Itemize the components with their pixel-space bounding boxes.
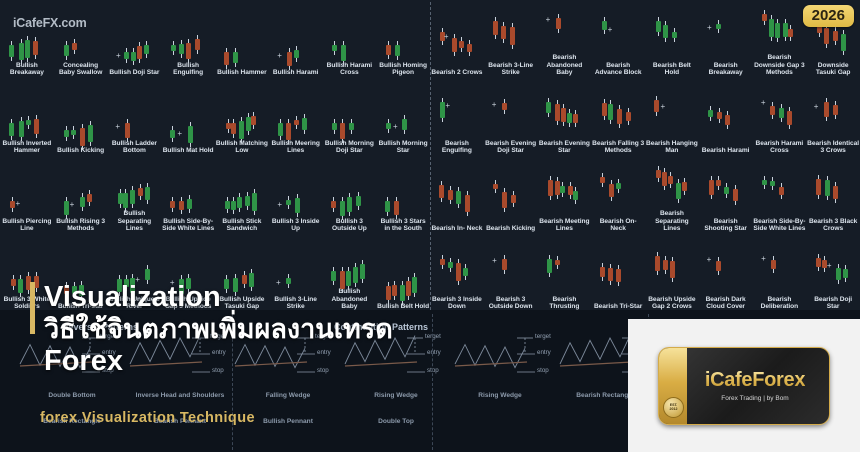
bearish-candle [80, 128, 85, 146]
bearish-candle [626, 112, 631, 120]
bullish-candle [656, 21, 661, 32]
pattern-cell: +Bearish Breakaway [699, 0, 753, 78]
pattern-cell: +Bullish Morning Star [376, 78, 430, 156]
bearish-candle [555, 260, 560, 265]
bearish-candle [33, 41, 38, 55]
candlestick-glyph [809, 171, 857, 217]
bullish-candle [775, 23, 780, 38]
pattern-label: Bullish Separating Lines [108, 209, 160, 233]
established-badge: EST. 2012 [663, 397, 684, 418]
pattern-label: Bullish Doji Star [108, 68, 160, 77]
bearish-candle [251, 116, 256, 125]
candlestick-glyph [487, 15, 535, 61]
pattern-cell: Concealing Baby Swallow [54, 0, 108, 78]
pattern-label: Bearish Kicking [485, 224, 537, 233]
bullish-candle [448, 262, 453, 268]
bullish-candle [567, 113, 572, 123]
bearish-candle [179, 201, 184, 210]
bullish-candle [294, 50, 299, 58]
bearish-candle [568, 186, 573, 195]
doji-marker: + [177, 130, 182, 138]
bearish-candle [616, 269, 621, 283]
bullish-candle [118, 193, 123, 204]
pattern-label: Bullish Harami Cross [323, 61, 375, 77]
bullish-candle [463, 268, 468, 276]
candlestick-glyph [110, 163, 158, 209]
bearish-candle [779, 187, 784, 195]
pattern-label: Bearish Evening Doji Star [485, 139, 537, 155]
pattern-label: Bearish Dark Cloud Cover [700, 295, 752, 311]
pattern-label: Bearish Separating Lines [646, 209, 698, 233]
pattern-label: Bearish Evening Star [538, 139, 590, 155]
chart-pattern-name: Double Top [346, 418, 446, 425]
site-watermark: iCafeFX.com [13, 16, 87, 30]
candlestick-glyph [164, 15, 212, 61]
candlestick-glyph: + [540, 7, 588, 53]
pattern-label: Bullish Stick Sandwich [216, 217, 268, 233]
candlestick-glyph: + [809, 93, 857, 139]
pattern-cell: Bearish Kicking [484, 156, 538, 234]
candlestick-glyph: + [648, 93, 696, 139]
pattern-cell: +Bullish Piercing Line [0, 156, 54, 234]
bullish-candle [131, 52, 136, 61]
pattern-cell: Bullish Matching Low [215, 78, 269, 156]
pattern-cell: +Bullish Harami [269, 0, 323, 78]
bullish-candle [25, 40, 30, 58]
bullish-candle [616, 183, 621, 189]
bearish-candle [816, 258, 821, 268]
annotation-label: stop [537, 367, 549, 374]
pattern-label: Downside Tasuki Gap [807, 61, 859, 77]
pattern-cell: Bearish Tri-Star [591, 234, 645, 312]
pattern-label: Bearish Doji Star [807, 295, 859, 311]
pattern-label: Bullish Homing Pigeon [377, 61, 429, 77]
bearish-candle [556, 18, 561, 29]
bearish-candle [668, 176, 673, 184]
doji-marker: + [444, 33, 449, 41]
pattern-label: Bullish Morning Star [377, 139, 429, 155]
bearish-candle [716, 261, 721, 272]
pattern-cell: Bullish Separating Lines [108, 156, 162, 234]
bearish-candle [459, 41, 464, 48]
annotation-label: entry [427, 349, 441, 356]
pattern-cell: +Bearish Harami Cross [753, 78, 807, 156]
bullish-candle [179, 44, 184, 55]
bullish-candle [188, 126, 193, 143]
candlestick-glyph: + [272, 171, 320, 217]
bullish-candle [18, 279, 23, 293]
pattern-cell: +Bearish Evening Doji Star [484, 78, 538, 156]
overlay-title-line2: วิธีใช้จินตภาพเพิ่มผลงานเทรด [44, 313, 393, 345]
bearish-candle [602, 103, 607, 116]
candlestick-glyph [379, 171, 427, 217]
pattern-label: Bearish Advance Block [592, 61, 644, 77]
bullish-candle [573, 191, 578, 200]
bullish-candle [302, 118, 307, 131]
bullish-candle [239, 121, 244, 139]
bearish-candle [440, 259, 445, 265]
pattern-cell: Bearish On-Neck [591, 156, 645, 234]
candlestick-glyph: + [3, 171, 51, 217]
pattern-label: Bullish Piercing Line [1, 217, 53, 233]
pattern-label: Bearish Identical 3 Crows [807, 139, 859, 155]
bullish-candle [783, 23, 788, 38]
candlestick-glyph: + [702, 249, 750, 295]
bullish-candle [19, 43, 24, 60]
pattern-label: Bullish Side-By-Side White Lines [162, 217, 214, 233]
pattern-cell: +Bullish Rising 3 Methods [54, 156, 108, 234]
bearish-candle [833, 105, 838, 115]
bullish-candle [708, 110, 713, 117]
bearish-candle [386, 45, 391, 55]
bullish-candle [347, 197, 352, 212]
pattern-label: Bullish Harami [270, 68, 322, 77]
bearish-candle [467, 44, 472, 52]
pattern-label: Concealing Baby Swallow [55, 61, 107, 77]
bearish-candle [717, 112, 722, 119]
candlestick-glyph: + [433, 93, 481, 139]
doji-marker: + [761, 99, 766, 107]
bullish-candle [331, 271, 336, 281]
bearish-candle [394, 201, 399, 215]
chart-pattern-name: Rising Wedge [452, 392, 548, 399]
pattern-label: Bearish On-Neck [592, 217, 644, 233]
pattern-label: Bearish 3 Inside Down [431, 295, 483, 311]
bullish-candle [71, 130, 76, 135]
candlestick-glyph [218, 171, 266, 217]
brand-name: iCafeForex [705, 369, 805, 392]
pattern-label: Bullish Breakaway [1, 61, 53, 77]
bullish-candle [762, 180, 767, 185]
doji-marker: + [761, 255, 766, 263]
bearish-candle [656, 170, 661, 178]
doji-marker: + [546, 16, 551, 24]
pattern-label: Bullish Mat Hold [162, 146, 214, 155]
bearish-candle [448, 190, 453, 200]
bullish-candle [602, 21, 607, 30]
pattern-cell: Bearish Upside Gap 2 Crows [645, 234, 699, 312]
candlestick-glyph [433, 178, 481, 224]
candlestick-glyph [540, 171, 588, 217]
bearish-candle [452, 38, 457, 52]
bearish-candle [34, 119, 39, 134]
bullish-candle [412, 277, 417, 293]
pattern-label: Bearish Falling 3 Methods [592, 139, 644, 155]
bearish-candle [770, 106, 775, 114]
candlestick-glyph: + [110, 22, 158, 68]
pattern-cell: Bullish Harami Cross [323, 0, 377, 78]
bearish-candle [561, 108, 566, 122]
bullish-candle [779, 108, 784, 118]
bearish-candle [573, 114, 578, 123]
candlestick-glyph: + [809, 249, 857, 295]
pattern-cell: Bearish Belt Hold [645, 0, 699, 78]
candlestick-glyph: + [702, 15, 750, 61]
candlestick-glyph [540, 93, 588, 139]
bullish-candle [402, 119, 407, 130]
bearish-candle [72, 43, 77, 50]
candlestick-glyph [487, 178, 535, 224]
bullish-candle [278, 123, 283, 137]
bearish-candle [493, 21, 498, 35]
candlestick-glyph: + [164, 100, 212, 146]
bearish-candle [510, 27, 515, 45]
pattern-label: Bearish 3 Black Crows [807, 217, 859, 233]
candlestick-glyph: + [594, 15, 642, 61]
candlestick-glyph [540, 249, 588, 295]
bearish-candle [609, 184, 614, 197]
bullish-candle [9, 45, 14, 57]
bullish-candle [231, 201, 236, 210]
bullish-candle [9, 123, 14, 136]
bullish-candle [769, 19, 774, 37]
title-accent-bar [30, 282, 35, 334]
bullish-candle [770, 181, 775, 186]
candlestick-glyph [218, 22, 266, 68]
pattern-label: Bearish 2 Crows [431, 68, 483, 77]
candlestick-glyph [379, 15, 427, 61]
candlestick-glyph: + [487, 93, 535, 139]
overlay-title-line1: Visualization [44, 281, 393, 313]
pattern-cell: +Bearish Advance Block [591, 0, 645, 78]
pattern-label: Bullish 3 Outside Up [323, 217, 375, 233]
pattern-label: Bullish 3 Inside Up [270, 217, 322, 233]
pattern-cell: +Bearish Deliberation [753, 234, 807, 312]
bearish-candle [224, 52, 229, 65]
bearish-candle [195, 39, 200, 50]
bullish-candle [547, 259, 552, 273]
pattern-cell: Bearish Meeting Lines [538, 156, 592, 234]
bullish-candle [385, 201, 390, 212]
bearish-candle [655, 256, 660, 271]
pattern-cell: Bullish Engulfing [161, 0, 215, 78]
candlestick-glyph [594, 171, 642, 217]
bullish-candle [88, 125, 93, 142]
bullish-candle [124, 52, 129, 59]
bullish-candle [170, 130, 175, 138]
bullish-candle [233, 52, 238, 63]
bearish-candle [502, 192, 507, 209]
pattern-cell: Bullish Morning Doji Star [323, 78, 377, 156]
candlestick-glyph [325, 15, 373, 61]
bullish-candle [560, 186, 565, 193]
candlestick-glyph [433, 249, 481, 295]
pattern-cell: +Bearish 2 Crows [430, 0, 484, 78]
pattern-cell: +Bearish 3 Outside Down [484, 234, 538, 312]
bearish-candle [465, 195, 470, 211]
bullish-candle [608, 104, 613, 121]
chart-pattern-name: Rising Wedge [346, 392, 446, 399]
bullish-candle [836, 268, 841, 280]
pattern-label: Bearish Hanging Man [646, 139, 698, 155]
brand-subtitle: Forex Trading | by Bom [721, 395, 788, 402]
candlestick-glyph: + [57, 171, 105, 217]
bullish-candle [841, 34, 846, 51]
pattern-label: Bearish Meeting Lines [538, 217, 590, 233]
pattern-cell: Bearish In- Neck [430, 156, 484, 234]
pattern-cell: Bearish Separating Lines [645, 156, 699, 234]
pattern-label: Bearish 3-Line Strike [485, 61, 537, 77]
pattern-label: Bearish 3 Outside Down [485, 295, 537, 311]
brand-logo-card: EST. 2012 iCafeForex Forex Trading | by … [628, 319, 860, 452]
infographic-canvas: Bullish BreakawayConcealing Baby Swallow… [0, 0, 860, 452]
candlestick-glyph: + [755, 93, 803, 139]
pattern-cell: Bullish Side-By-Side White Lines [161, 156, 215, 234]
candlestick-glyph [325, 171, 373, 217]
bearish-candle [502, 259, 507, 271]
bullish-candle [171, 45, 176, 51]
bearish-candle [87, 194, 92, 201]
bullish-candle [80, 197, 85, 207]
pattern-cell: Bearish Falling 3 Methods [591, 78, 645, 156]
pattern-cell: Bearish Thrusting [538, 234, 592, 312]
bullish-candle [64, 201, 69, 215]
doji-marker: + [116, 52, 121, 60]
pattern-cell: Bullish Stick Sandwich [215, 156, 269, 234]
bearish-candle [125, 123, 130, 138]
pattern-cell: Bearish Side-By-Side White Lines [753, 156, 807, 234]
bullish-candle [64, 45, 69, 56]
pattern-cell: +Bearish Hanging Man [645, 78, 699, 156]
pattern-label: Bullish 3 Stars in the South [377, 217, 429, 233]
candlestick-glyph: + [433, 22, 481, 68]
bearish-candle [340, 123, 345, 139]
pattern-label: Bearish Harami Cross [753, 139, 805, 155]
bullish-candle [825, 180, 830, 197]
doji-marker: + [70, 201, 75, 209]
bearish-candle [617, 109, 622, 124]
bearish-candle [231, 123, 236, 135]
candlestick-glyph [218, 93, 266, 139]
bearish-candle [511, 195, 516, 203]
pattern-label: Bearish Abandoned Baby [538, 53, 590, 77]
bearish-candle [787, 111, 792, 125]
bearish-candle [555, 104, 560, 122]
pattern-cell: Bullish Kicking [54, 78, 108, 156]
candlestick-glyph [164, 171, 212, 217]
doji-marker: + [707, 24, 712, 32]
pattern-cell: Bearish Shooting Star [699, 156, 753, 234]
bearish-candle [170, 201, 175, 208]
pattern-label: Bearish Upside Gap 2 Crows [646, 295, 698, 311]
pattern-label: Bearish Engulfing [431, 139, 483, 155]
pattern-cell: Bearish 3 Inside Down [430, 234, 484, 312]
doji-marker: + [393, 123, 398, 131]
pattern-label: Bullish Meering Lines [270, 139, 322, 155]
candlestick-glyph [648, 163, 696, 209]
doji-marker: + [660, 103, 665, 111]
overlay-title: Visualization วิธีใช้จินตภาพเพิ่มผลงานเท… [44, 281, 393, 377]
bearish-candle [406, 281, 411, 296]
bearish-candle [186, 43, 191, 59]
bullish-candle [252, 193, 257, 210]
annotation-label: terget [535, 333, 551, 340]
pattern-label: Bearish Belt Hold [646, 61, 698, 77]
chart-pattern-name: Inverse Head and Shoulders [130, 392, 230, 399]
overlay-title-line3: Forex [44, 345, 393, 377]
bearish-candle [286, 123, 291, 140]
candlestick-glyph: + [379, 93, 427, 139]
bearish-candle [654, 100, 659, 112]
pattern-cell: Bullish Breakaway [0, 0, 54, 78]
candlestick-glyph [648, 249, 696, 295]
bullish-candle [245, 196, 250, 206]
pattern-cell: +Bearish Identical 3 Crows [806, 78, 860, 156]
pattern-label: Bullish Kicking [55, 146, 107, 155]
bearish-candle [824, 102, 829, 117]
bearish-candle [833, 31, 838, 40]
bearish-candle [788, 29, 793, 37]
pattern-label: Bullish Ladder Bottom [108, 139, 160, 155]
pattern-cell: +Bearish Doji Star [806, 234, 860, 312]
bullish-candle [246, 117, 251, 130]
band-divider [432, 314, 433, 450]
bullish-candle [340, 201, 345, 216]
bullish-candle [144, 45, 149, 55]
bearish-candle [331, 201, 336, 209]
doji-marker: + [115, 123, 120, 131]
bullish-candle [360, 264, 365, 280]
bullish-candle [130, 190, 135, 204]
pattern-cell: +Bearish Engulfing [430, 78, 484, 156]
bearish-candle [548, 180, 553, 196]
bearish-candle [600, 177, 605, 183]
doji-marker: + [707, 256, 712, 264]
pattern-cell: Bearish 3 Black Crows [806, 156, 860, 234]
year-badge: 2026 [803, 5, 854, 27]
bullish-candle [386, 123, 391, 129]
bullish-candle [843, 269, 848, 278]
bearish-candle [833, 186, 838, 199]
pattern-label: Bearish Shooting Star [700, 217, 752, 233]
bullish-candle [663, 25, 668, 38]
pattern-cell: Bullish Homing Pigeon [376, 0, 430, 78]
pattern-label: Bearish Breakaway [700, 61, 752, 77]
bearish-candle [138, 188, 143, 196]
bullish-candle [456, 191, 461, 204]
bearish-candle [716, 180, 721, 186]
bullish-candle [332, 123, 337, 130]
bearish-candle [456, 263, 461, 281]
bullish-candle [145, 269, 150, 280]
pattern-label: Bullish Morning Doji Star [323, 139, 375, 155]
pattern-label: Bearish Deliberation [753, 295, 805, 311]
pattern-label: Bearish Harami [700, 146, 752, 155]
bearish-candle [294, 120, 299, 126]
bearish-candle [608, 268, 613, 281]
candlestick-glyph [57, 100, 105, 146]
pattern-cell: +Bearish Dark Cloud Cover [699, 234, 753, 312]
pattern-label: Bullish Inverted Hammer [1, 139, 53, 155]
pattern-cell: Bearish Evening Star [538, 78, 592, 156]
candlestick-glyph [702, 171, 750, 217]
bearish-candle [226, 123, 231, 129]
doji-marker: + [492, 257, 497, 265]
bearish-candle [10, 201, 15, 208]
pattern-label: Bearish Downside Gap 3 Methods [753, 53, 805, 77]
candlestick-glyph: + [487, 249, 535, 295]
chart-pattern-name: Falling Wedge [238, 392, 338, 399]
bullish-candle [341, 45, 346, 62]
bearish-candle [439, 185, 444, 198]
bullish-candle [724, 187, 729, 194]
bearish-candle [663, 260, 668, 270]
candlestick-glyph [272, 93, 320, 139]
bullish-candle [26, 120, 31, 126]
pattern-cell: Bullish 3 Outside Up [323, 156, 377, 234]
pattern-cell: Bearish 3-Line Strike [484, 0, 538, 78]
bullish-candle [672, 32, 677, 38]
